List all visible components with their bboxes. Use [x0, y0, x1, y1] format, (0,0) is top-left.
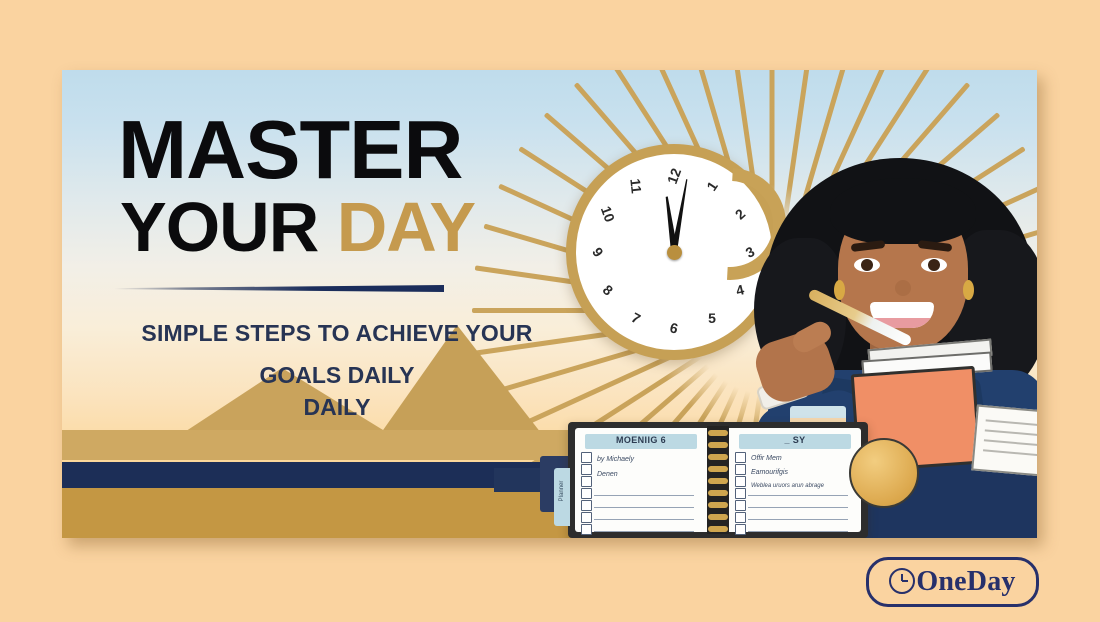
planner-ruled-line: [748, 495, 848, 496]
spiral-ring: [708, 490, 728, 496]
headline-line-2: YOUR DAY: [120, 192, 588, 262]
planner-ruled-line: [748, 519, 848, 520]
planner-left-page-header-text: MOENIIG 6: [585, 435, 697, 445]
planner-left-note-1: by Michaely: [597, 456, 634, 463]
clock-numeral: 8: [600, 281, 617, 298]
clock-numeral: 5: [708, 310, 716, 326]
planner-checkbox[interactable]: [735, 524, 746, 535]
planner-checkbox[interactable]: [581, 524, 592, 535]
spiral-ring: [708, 514, 728, 520]
planner-checkbox[interactable]: [581, 464, 592, 475]
open-planner-notebook: Planner MOENIIG 6 by Michaely Denen _ SY…: [568, 422, 868, 538]
wall-clock-icon: 121234567891011: [566, 144, 782, 360]
spiral-ring: [708, 466, 728, 472]
open-papers: [971, 405, 1037, 478]
subheadline-line-1: SIMPLE STEPS TO ACHIEVE YOUR: [102, 320, 572, 347]
gold-disc-ornament: [849, 438, 919, 508]
planner-right-note-2: Eamourifgis: [751, 469, 788, 476]
planner-right-page: _ SY Offir Mem Eamourifgis Weblea uruors…: [729, 428, 861, 532]
planner-side-tab: Planner: [554, 468, 570, 526]
planner-checkbox[interactable]: [735, 464, 746, 475]
planner-ruled-line: [594, 531, 694, 532]
spiral-ring: [708, 478, 728, 484]
subheadline-block: SIMPLE STEPS TO ACHIEVE YOUR GOALS DAILY…: [102, 320, 572, 421]
logo-text: OneDay: [889, 566, 1015, 598]
planner-left-note-2: Denen: [597, 471, 618, 478]
page-background: MASTER YOUR DAY SIMPLE STEPS TO ACHIEVE …: [0, 0, 1100, 622]
subheadline-line-3: DAILY: [102, 394, 572, 421]
earring-left: [834, 280, 845, 300]
planner-right-note-1: Offir Mem: [751, 455, 782, 462]
planner-ruled-line: [594, 495, 694, 496]
eye-right: [921, 258, 947, 272]
planner-right-note-3: Weblea uruors arun abrage: [751, 483, 824, 489]
brand-logo[interactable]: OneDay: [866, 557, 1039, 607]
headline-block: MASTER YOUR DAY: [118, 112, 588, 262]
clock-numeral: 6: [668, 319, 679, 336]
planner-checkbox[interactable]: [581, 512, 592, 523]
planner-checkbox[interactable]: [581, 476, 592, 487]
logo-text-one: One: [916, 566, 966, 597]
hair-fringe: [830, 178, 976, 244]
planner-checkbox[interactable]: [581, 452, 592, 463]
planner-ruled-line: [594, 507, 694, 508]
planner-checkbox[interactable]: [735, 452, 746, 463]
spiral-ring: [708, 442, 728, 448]
clock-numeral: 7: [629, 309, 643, 327]
nose: [895, 280, 911, 296]
planner-checkbox[interactable]: [735, 488, 746, 499]
spiral-ring: [708, 526, 728, 532]
planner-checkbox[interactable]: [735, 500, 746, 511]
subheadline-line-2: GOALS DAILY: [102, 362, 572, 389]
planner-ruled-line: [748, 531, 848, 532]
planner-right-page-header-text: _ SY: [739, 435, 851, 445]
promotional-banner-card: MASTER YOUR DAY SIMPLE STEPS TO ACHIEVE …: [62, 70, 1037, 538]
headline-day: DAY: [337, 188, 475, 266]
headline-line-1: MASTER: [118, 112, 588, 188]
spiral-ring: [708, 454, 728, 460]
clock-icon: [889, 568, 915, 594]
clock-numeral: 12: [664, 166, 684, 186]
planner-ruled-line: [594, 519, 694, 520]
planner-right-page-header: _ SY: [739, 434, 851, 449]
planner-left-page: MOENIIG 6 by Michaely Denen: [575, 428, 707, 532]
headline-your: YOUR: [120, 188, 337, 266]
title-underline-rule: [114, 285, 444, 292]
planner-checkbox[interactable]: [581, 500, 592, 511]
spiral-ring: [708, 430, 728, 436]
planner-checkbox[interactable]: [735, 476, 746, 487]
planner-left-page-header: MOENIIG 6: [585, 434, 697, 449]
logo-text-day: Day: [967, 566, 1016, 597]
planner-side-tab-label: Planner: [559, 469, 565, 513]
clock-center-pin: [667, 245, 682, 260]
spiral-ring: [708, 502, 728, 508]
planner-checkbox[interactable]: [735, 512, 746, 523]
earring-right: [963, 280, 974, 300]
clock-numeral: 11: [627, 178, 644, 194]
eye-left: [854, 258, 880, 272]
planner-checkbox[interactable]: [581, 488, 592, 499]
clock-numeral: 4: [734, 281, 745, 298]
planner-spiral-binding: [707, 426, 729, 534]
clock-numeral: 10: [598, 204, 618, 224]
clock-numeral: 9: [589, 244, 607, 259]
planner-ruled-line: [748, 507, 848, 508]
